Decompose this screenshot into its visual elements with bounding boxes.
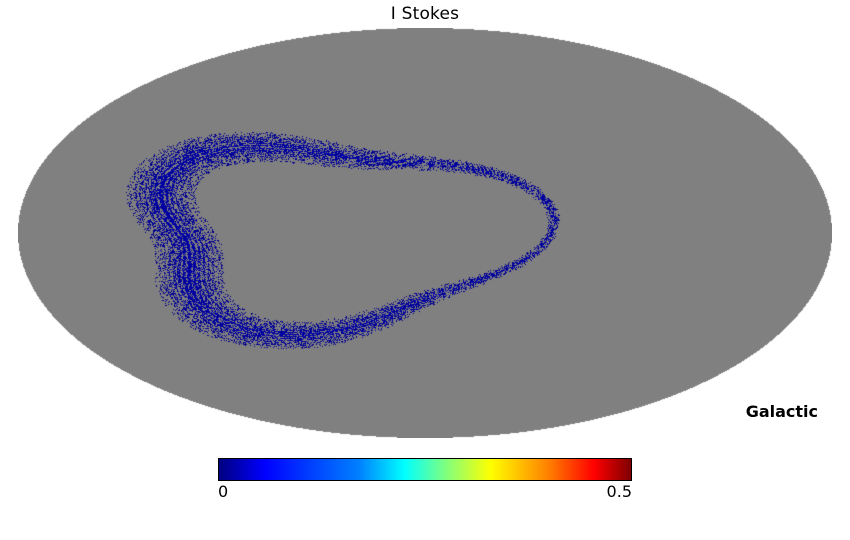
sky-map-canvas [18,28,832,438]
colorbar-max-tick-label: 0.5 [607,482,632,501]
figure-canvas: I Stokes Galactic 0 0.5 [0,0,850,540]
colorbar-gradient [218,458,632,481]
colorbar: 0 0.5 [218,458,632,500]
coordinate-system-label: Galactic [746,402,818,421]
page-title: I Stokes [0,4,850,24]
colorbar-min-tick-label: 0 [218,482,228,501]
mollweide-projection [18,28,832,438]
